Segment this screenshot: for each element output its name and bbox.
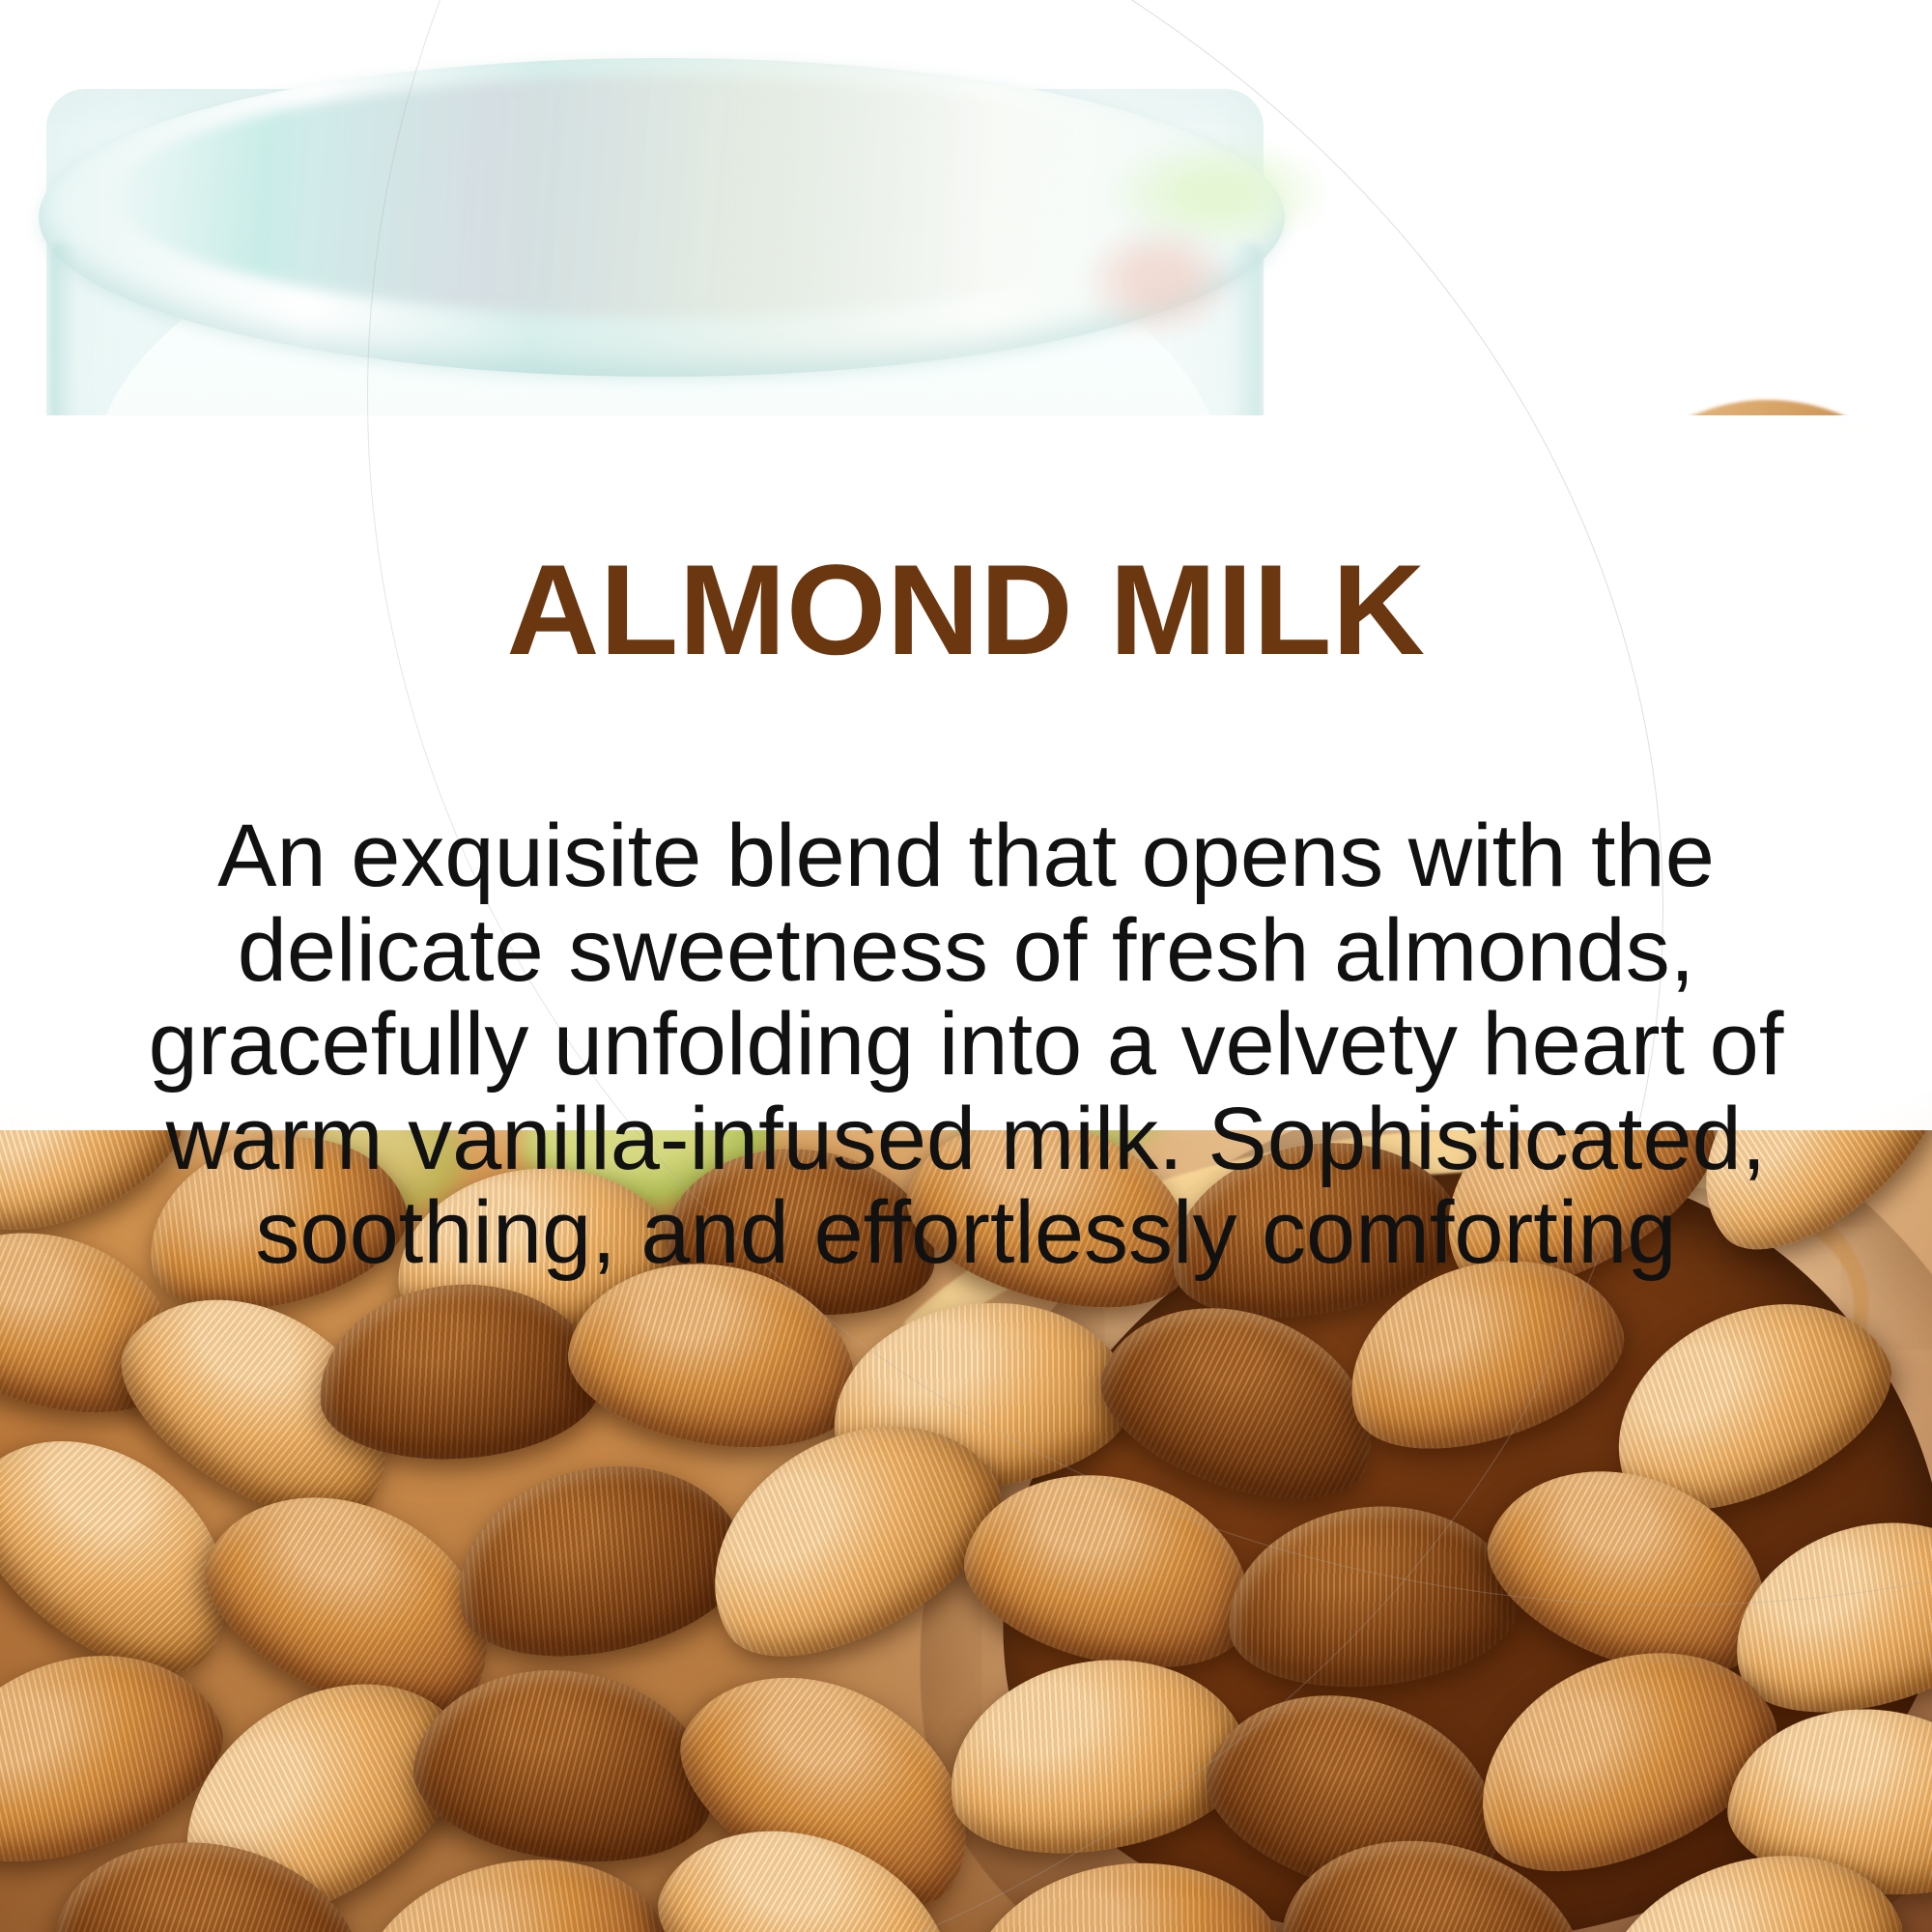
card-text: ALMOND MILK An exquisite blend that open… (0, 0, 1932, 1932)
description-line: warm vanilla-infused milk. Sophisticated… (58, 1093, 1874, 1187)
description-line: gracefully unfolding into a velvety hear… (58, 998, 1874, 1093)
product-description: An exquisite blend that opens with the d… (58, 810, 1874, 1281)
description-line: soothing, and effortlessly comforting (58, 1186, 1874, 1281)
almond-milk-product-card: ALMOND MILK An exquisite blend that open… (0, 0, 1932, 1932)
description-line: delicate sweetness of fresh almonds, (58, 904, 1874, 999)
description-line: An exquisite blend that opens with the (58, 810, 1874, 904)
page-title: ALMOND MILK (0, 547, 1932, 675)
